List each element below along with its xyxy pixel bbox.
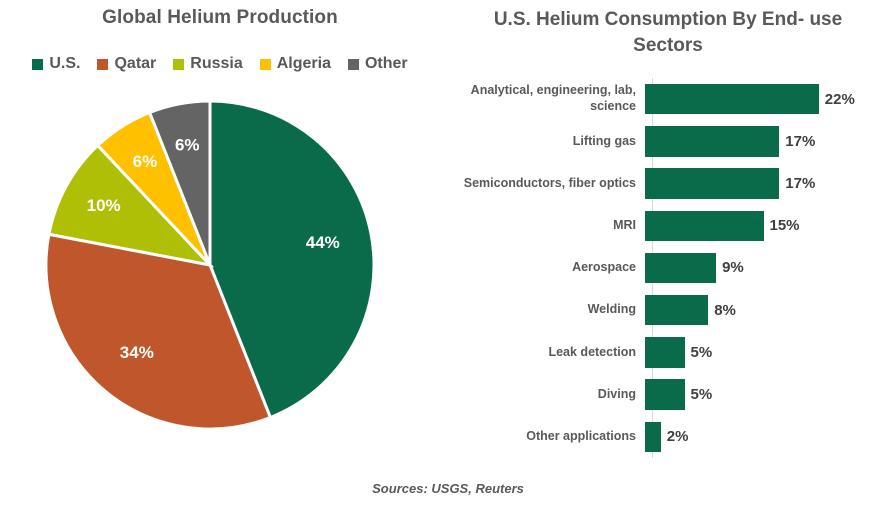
bar-chart-title-line-1: U.S. Helium Consumption By End- <box>494 9 804 30</box>
bar-fill[interactable] <box>645 295 708 325</box>
bar-category-label: Welding <box>440 302 644 318</box>
legend-item-other[interactable]: Other <box>348 55 408 73</box>
us-helium-consumption-panel: U.S. Helium Consumption By End- use Sect… <box>440 0 896 470</box>
source-note: Sources: USGS, Reuters <box>0 481 896 496</box>
bar-value-label: 8% <box>714 302 736 319</box>
pie-slice-label: 6% <box>133 152 158 171</box>
bar-fill[interactable] <box>645 84 819 114</box>
bar-category-label: Other applications <box>440 429 644 445</box>
bar-value-label: 9% <box>722 259 744 276</box>
legend-item-russia[interactable]: Russia <box>173 55 242 73</box>
pie-slice-label: 44% <box>306 233 340 252</box>
bar-row[interactable]: Welding8% <box>440 289 896 331</box>
bar-track: 5% <box>645 331 896 373</box>
bar-track: 2% <box>645 416 896 458</box>
pie-legend: U.S.QatarRussiaAlgeriaOther <box>0 55 440 73</box>
legend-item-label: Russia <box>190 55 242 73</box>
pie-slice-label: 10% <box>87 196 121 215</box>
bar-row[interactable]: Semiconductors, fiber optics17% <box>440 162 896 204</box>
bar-category-label: Diving <box>440 387 644 403</box>
bar-value-label: 2% <box>667 428 689 445</box>
legend-item-label: Algeria <box>277 55 331 73</box>
global-helium-production-panel: Global Helium Production U.S.QatarRussia… <box>0 0 440 470</box>
bar-fill[interactable] <box>645 422 661 452</box>
bar-row[interactable]: Lifting gas17% <box>440 120 896 162</box>
bar-value-label: 17% <box>785 133 815 150</box>
bar-value-label: 5% <box>691 344 713 361</box>
bar-track: 22% <box>645 78 896 120</box>
bar-track: 5% <box>645 374 896 416</box>
bar-category-label: MRI <box>440 218 644 234</box>
bar-fill[interactable] <box>645 211 764 241</box>
legend-swatch-icon <box>348 59 359 70</box>
bar-fill[interactable] <box>645 168 779 198</box>
legend-item-label: Other <box>365 55 408 73</box>
bar-track: 17% <box>645 120 896 162</box>
legend-swatch-icon <box>97 59 108 70</box>
bar-track: 8% <box>645 289 896 331</box>
bar-fill[interactable] <box>645 337 685 367</box>
bar-row[interactable]: Analytical, engineering, lab, science22% <box>440 78 896 120</box>
pie-chart-title: Global Helium Production <box>0 7 440 29</box>
bar-category-label: Analytical, engineering, lab, science <box>440 83 644 114</box>
bar-track: 9% <box>645 247 896 289</box>
legend-item-u-s[interactable]: U.S. <box>32 55 80 73</box>
bar-value-label: 15% <box>770 217 800 234</box>
bar-category-label: Lifting gas <box>440 134 644 150</box>
bar-value-label: 17% <box>785 175 815 192</box>
legend-swatch-icon <box>260 59 271 70</box>
pie-chart-svg: 44%34%10%6%6% <box>45 100 375 430</box>
legend-item-qatar[interactable]: Qatar <box>97 55 156 73</box>
legend-swatch-icon <box>173 59 184 70</box>
legend-item-label: Qatar <box>114 55 156 73</box>
bar-fill[interactable] <box>645 126 779 156</box>
bar-value-label: 5% <box>691 386 713 403</box>
pie-slice-label: 34% <box>120 343 154 362</box>
chart-canvas: Global Helium Production U.S.QatarRussia… <box>0 0 896 525</box>
bar-category-label: Semiconductors, fiber optics <box>440 176 644 192</box>
bar-row[interactable]: Other applications2% <box>440 416 896 458</box>
bar-chart-title: U.S. Helium Consumption By End- use Sect… <box>468 7 868 58</box>
legend-item-label: U.S. <box>49 55 80 73</box>
bar-fill[interactable] <box>645 253 716 283</box>
pie-slice-label: 6% <box>175 135 200 154</box>
legend-swatch-icon <box>32 59 43 70</box>
bar-category-label: Leak detection <box>440 345 644 361</box>
bar-category-label: Aerospace <box>440 260 644 276</box>
bar-track: 15% <box>645 205 896 247</box>
legend-item-algeria[interactable]: Algeria <box>260 55 331 73</box>
bar-row[interactable]: Diving5% <box>440 374 896 416</box>
bar-chart-rows: Analytical, engineering, lab, science22%… <box>440 78 896 458</box>
bar-chart-plot-area: Analytical, engineering, lab, science22%… <box>440 78 896 458</box>
bar-fill[interactable] <box>645 379 685 409</box>
pie-chart: 44%34%10%6%6% <box>45 100 375 430</box>
bar-row[interactable]: Aerospace9% <box>440 247 896 289</box>
bar-track: 17% <box>645 162 896 204</box>
bar-row[interactable]: Leak detection5% <box>440 331 896 373</box>
bar-value-label: 22% <box>825 91 855 108</box>
bar-row[interactable]: MRI15% <box>440 205 896 247</box>
